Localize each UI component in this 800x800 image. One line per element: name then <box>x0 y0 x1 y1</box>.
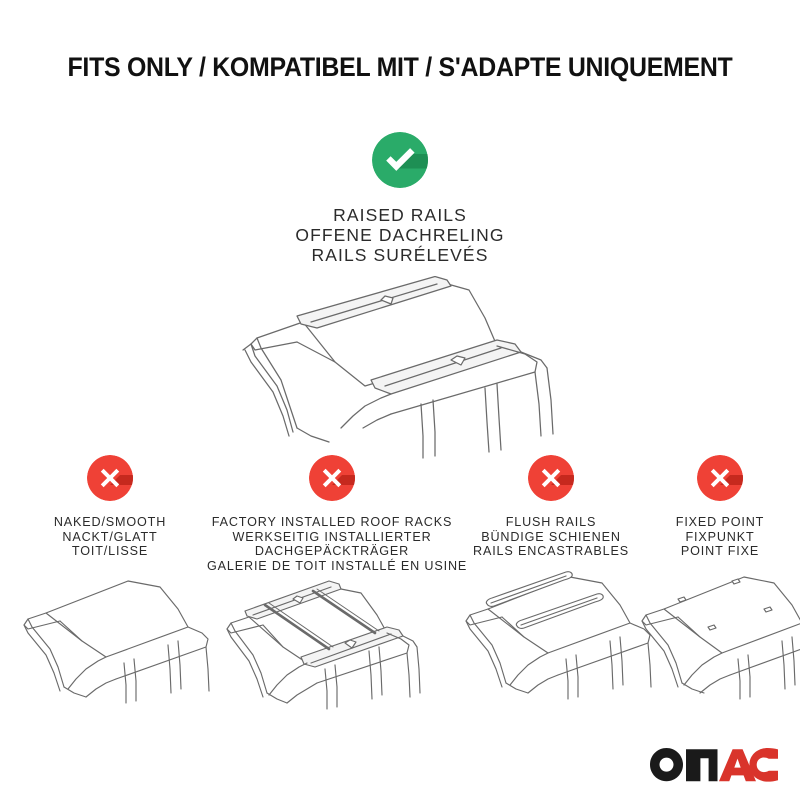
x-circle-icon <box>309 455 355 501</box>
car-roof-flush-rails-illustration <box>452 565 650 705</box>
label-line-3: RAILS ENCASTRABLES <box>452 544 650 559</box>
car-roof-naked-illustration <box>10 565 210 705</box>
label-line-2: NACKT/GLATT <box>10 530 210 545</box>
car-roof-raised-rails-illustration <box>185 276 615 461</box>
incompatible-item-factory-racks: FACTORY INSTALLED ROOF RACKS WERKSEITIG … <box>207 455 457 719</box>
compatible-section: RAISED RAILS OFFENE DACHRELING RAILS SUR… <box>0 132 800 265</box>
label-line-1: FIXED POINT <box>630 515 800 530</box>
label-line-2: FIXPUNKT <box>630 530 800 545</box>
x-circle-icon <box>528 455 574 501</box>
check-circle-icon <box>372 132 428 188</box>
incompatible-labels: FACTORY INSTALLED ROOF RACKS WERKSEITIG … <box>207 515 457 573</box>
label-line-1: NAKED/SMOOTH <box>10 515 210 530</box>
car-roof-fixed-point-illustration <box>630 565 800 705</box>
label-line-2: BÜNDIGE SCHIENEN <box>452 530 650 545</box>
omac-logo <box>650 748 778 782</box>
incompatible-labels: FIXED POINT FIXPUNKT POINT FIXE <box>630 515 800 559</box>
car-roof-factory-racks-illustration <box>207 579 457 719</box>
incompatible-item-flush-rails: FLUSH RAILS BÜNDIGE SCHIENEN RAILS ENCAS… <box>452 455 650 719</box>
incompatible-section: NAKED/SMOOTH NACKT/GLATT TOIT/LISSE <box>0 455 800 719</box>
incompatible-labels: NAKED/SMOOTH NACKT/GLATT TOIT/LISSE <box>10 515 210 559</box>
label-line-3: POINT FIXE <box>630 544 800 559</box>
label-line-2: WERKSEITIG INSTALLIERTER <box>207 530 457 545</box>
x-circle-icon <box>87 455 133 501</box>
label-line-3: TOIT/LISSE <box>10 544 210 559</box>
compatible-label-en: RAISED RAILS <box>0 205 800 225</box>
incompatible-labels: FLUSH RAILS BÜNDIGE SCHIENEN RAILS ENCAS… <box>452 515 650 559</box>
x-circle-icon <box>697 455 743 501</box>
label-line-4: GALERIE DE TOIT INSTALLÉ EN USINE <box>207 559 457 574</box>
incompatible-item-fixed-point: FIXED POINT FIXPUNKT POINT FIXE <box>630 455 800 719</box>
compatible-label-fr: RAILS SURÉLEVÉS <box>0 245 800 265</box>
incompatible-item-naked-smooth: NAKED/SMOOTH NACKT/GLATT TOIT/LISSE <box>10 455 210 719</box>
label-line-1: FLUSH RAILS <box>452 515 650 530</box>
label-line-1: FACTORY INSTALLED ROOF RACKS <box>207 515 457 530</box>
label-line-3: DACHGEPÄCKTRÄGER <box>207 544 457 559</box>
compatible-label-de: OFFENE DACHRELING <box>0 225 800 245</box>
compatible-labels: RAISED RAILS OFFENE DACHRELING RAILS SUR… <box>0 205 800 265</box>
page-title: FITS ONLY / KOMPATIBEL MIT / S'ADAPTE UN… <box>24 52 776 83</box>
